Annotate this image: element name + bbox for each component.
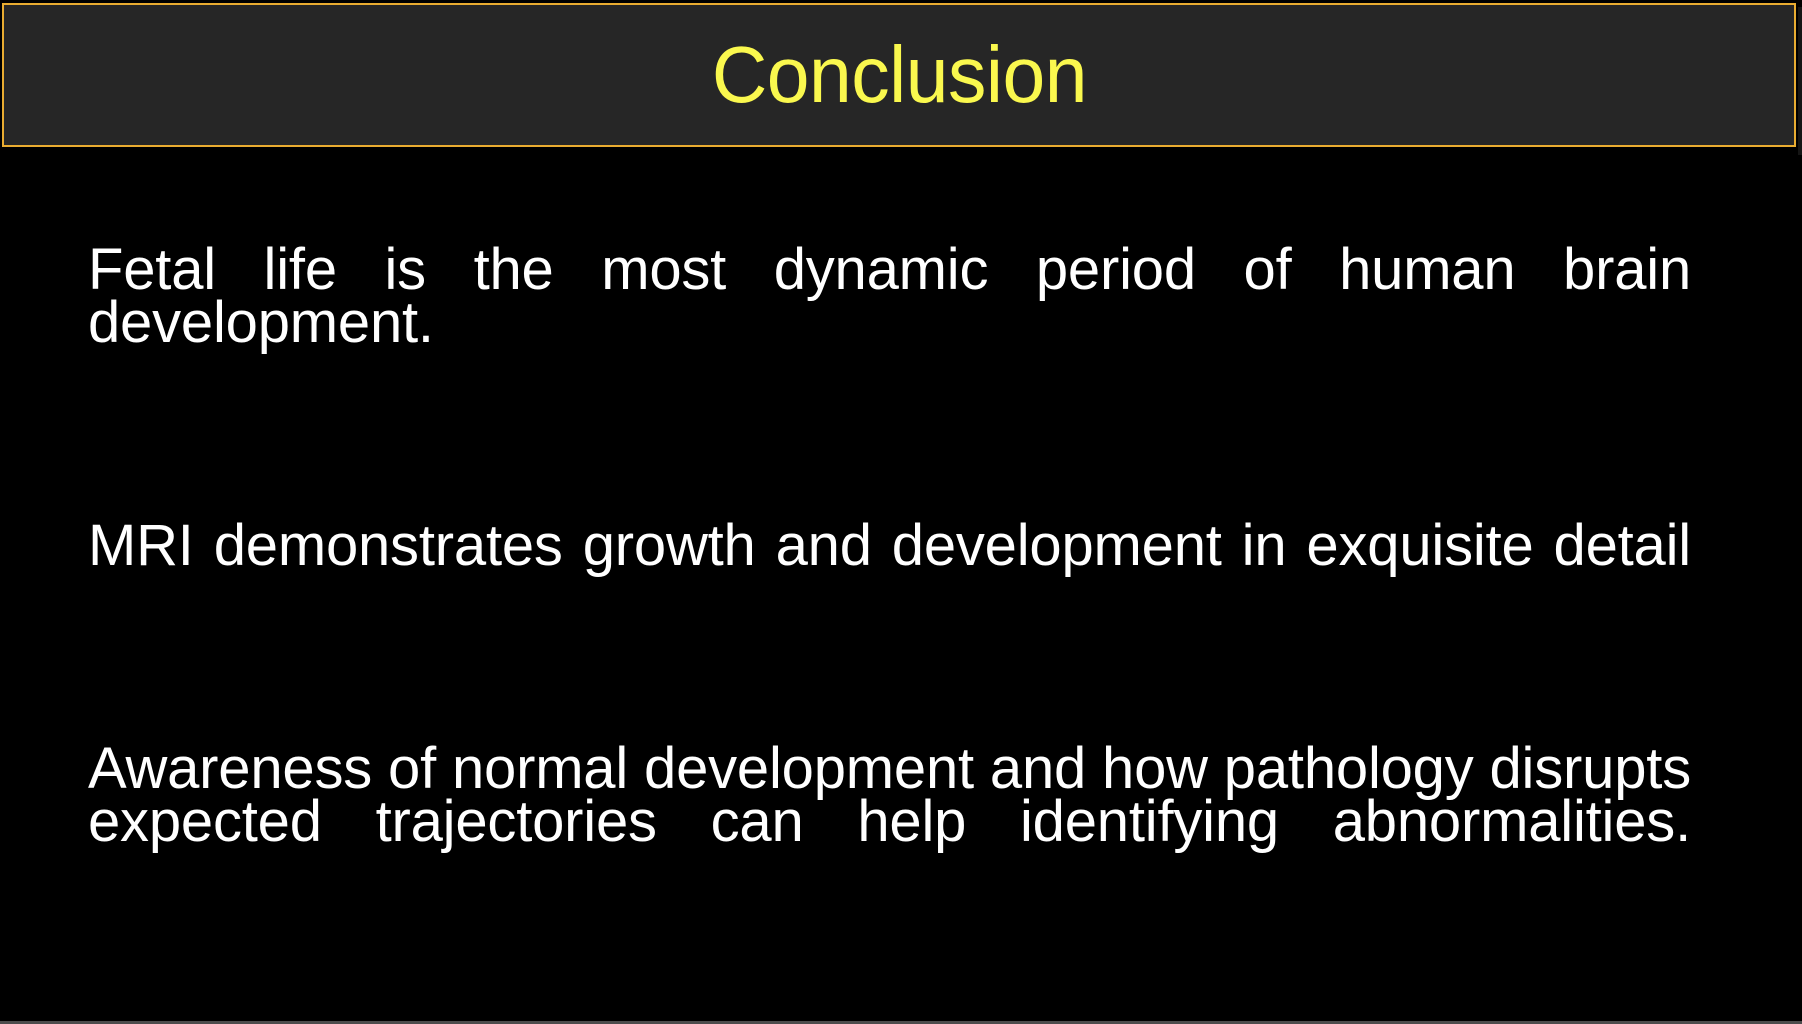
body-paragraph-mri-detail: MRI demonstrates growth and development … [88, 519, 1691, 625]
slide-title: Conclusion [711, 35, 1086, 115]
slide-title-bar: Conclusion [2, 3, 1796, 147]
body-paragraph-fetal-life: Fetal life is the most dynamic period of… [88, 243, 1691, 402]
body-paragraph-awareness: Awareness of normal development and how … [88, 742, 1691, 901]
presentation-slide: Conclusion Fetal life is the most dynami… [0, 0, 1802, 1024]
slide-body: Fetal life is the most dynamic period of… [88, 243, 1691, 901]
title-bar-shadow [1798, 7, 1802, 155]
